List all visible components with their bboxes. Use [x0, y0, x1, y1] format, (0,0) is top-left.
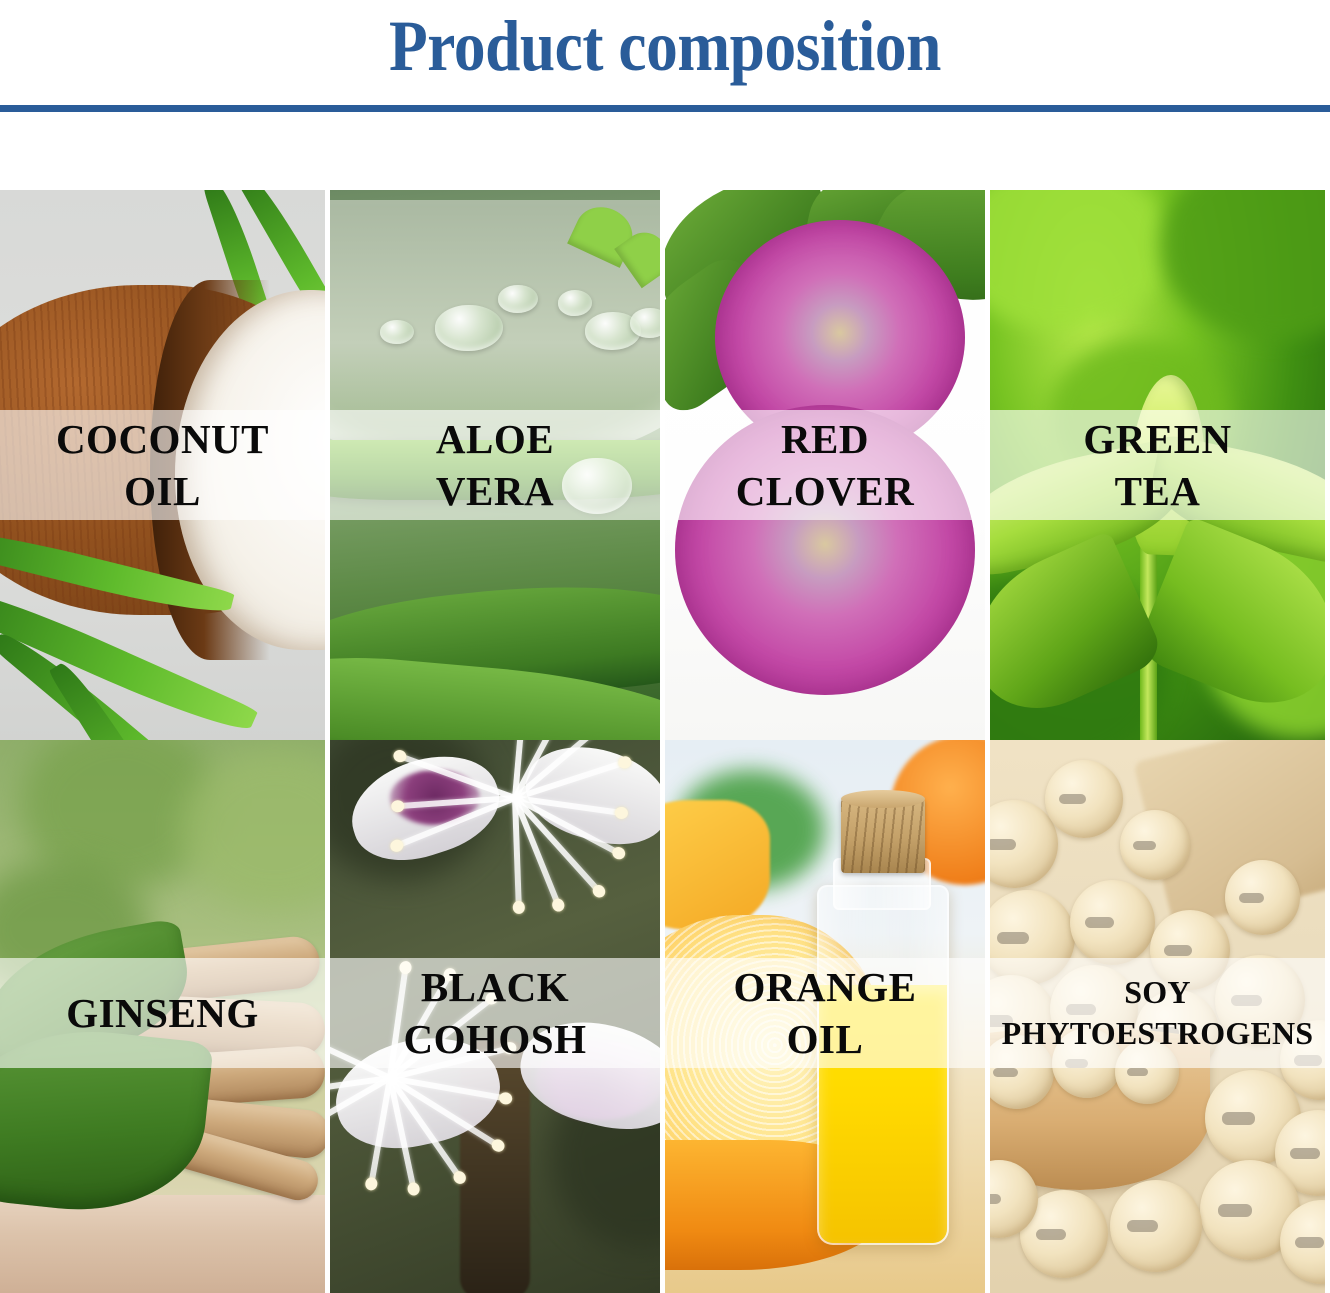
- ingredient-label-band: BLACK COHOSH: [330, 958, 660, 1068]
- ingredient-label-line1: RED: [781, 416, 869, 462]
- ingredient-tile-orange-oil[interactable]: ORANGE OIL: [665, 740, 985, 1293]
- ingredient-tile-ginseng[interactable]: GINSENG: [0, 740, 325, 1293]
- ingredient-tile-aloe-vera[interactable]: ALOE VERA: [330, 190, 660, 740]
- ingredient-label-band: GREEN TEA: [990, 410, 1325, 520]
- ingredient-label-band: ORANGE OIL: [665, 958, 985, 1068]
- ingredient-label-line2: TEA: [1115, 468, 1201, 514]
- ingredient-label-line1: COCONUT: [56, 416, 269, 462]
- ingredient-label-line1: ORANGE: [734, 964, 917, 1010]
- ingredient-label-line2: COHOSH: [404, 1016, 587, 1062]
- ingredient-label-band: SOY PHYTOESTROGENS: [990, 958, 1325, 1068]
- ingredient-label-line2: OIL: [124, 468, 201, 514]
- ingredient-label-line2: CLOVER: [736, 468, 914, 514]
- page-title: Product composition: [80, 0, 1250, 94]
- ingredient-label-line1: ALOE: [436, 416, 554, 462]
- product-composition-infographic: Product composition COCONUT OIL: [0, 0, 1330, 1293]
- ingredient-label-line2: OIL: [787, 1016, 864, 1062]
- ingredient-label-line1: GINSENG: [66, 990, 259, 1036]
- ingredient-tile-black-cohosh[interactable]: BLACK COHOSH: [330, 740, 660, 1293]
- ingredient-tile-coconut-oil[interactable]: COCONUT OIL: [0, 190, 325, 740]
- ingredient-label-band: ALOE VERA: [330, 410, 660, 520]
- ingredient-label-line1: SOY: [1124, 974, 1190, 1010]
- ingredient-tile-green-tea[interactable]: GREEN TEA: [990, 190, 1325, 740]
- ingredient-label-line1: GREEN: [1083, 416, 1231, 462]
- ingredient-label-line1: BLACK: [421, 964, 569, 1010]
- ingredient-label-line2: PHYTOESTROGENS: [1002, 1015, 1314, 1051]
- ingredient-tile-red-clover[interactable]: RED CLOVER: [665, 190, 985, 740]
- header: Product composition: [0, 0, 1330, 190]
- header-divider: [0, 105, 1330, 112]
- ingredient-label-band: GINSENG: [0, 958, 325, 1068]
- ingredient-label-band: COCONUT OIL: [0, 410, 325, 520]
- ingredient-grid: COCONUT OIL ALOE VERA: [0, 190, 1330, 1293]
- ingredient-label-line2: VERA: [436, 468, 554, 514]
- ingredient-label-band: RED CLOVER: [665, 410, 985, 520]
- ingredient-tile-soy-phytoestrogens[interactable]: SOY PHYTOESTROGENS: [990, 740, 1325, 1293]
